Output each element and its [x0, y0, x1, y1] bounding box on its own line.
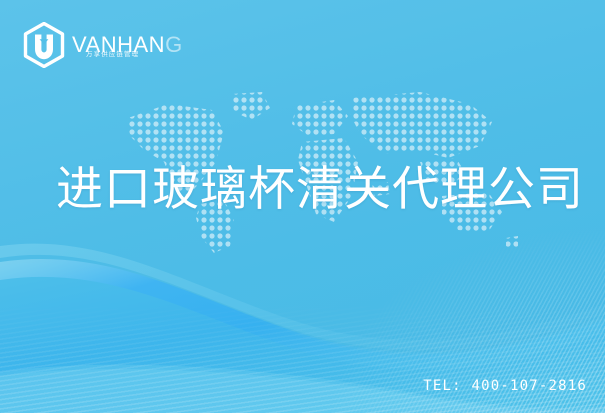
brand-logo[interactable]: VANHANG 万享供应链管理 [22, 22, 183, 68]
promo-banner: VANHANG 万享供应链管理 进口玻璃杯清关代理公司 TEL: 400-107… [0, 0, 605, 413]
hexagon-u-logo-icon [22, 22, 66, 68]
contact-phone: TEL: 400-107-2816 [423, 378, 587, 394]
logo-subtitle: 万享供应链管理 [86, 51, 139, 58]
page-title: 进口玻璃杯清关代理公司 [56, 166, 584, 213]
logo-wordmark-accent: G [165, 32, 183, 57]
